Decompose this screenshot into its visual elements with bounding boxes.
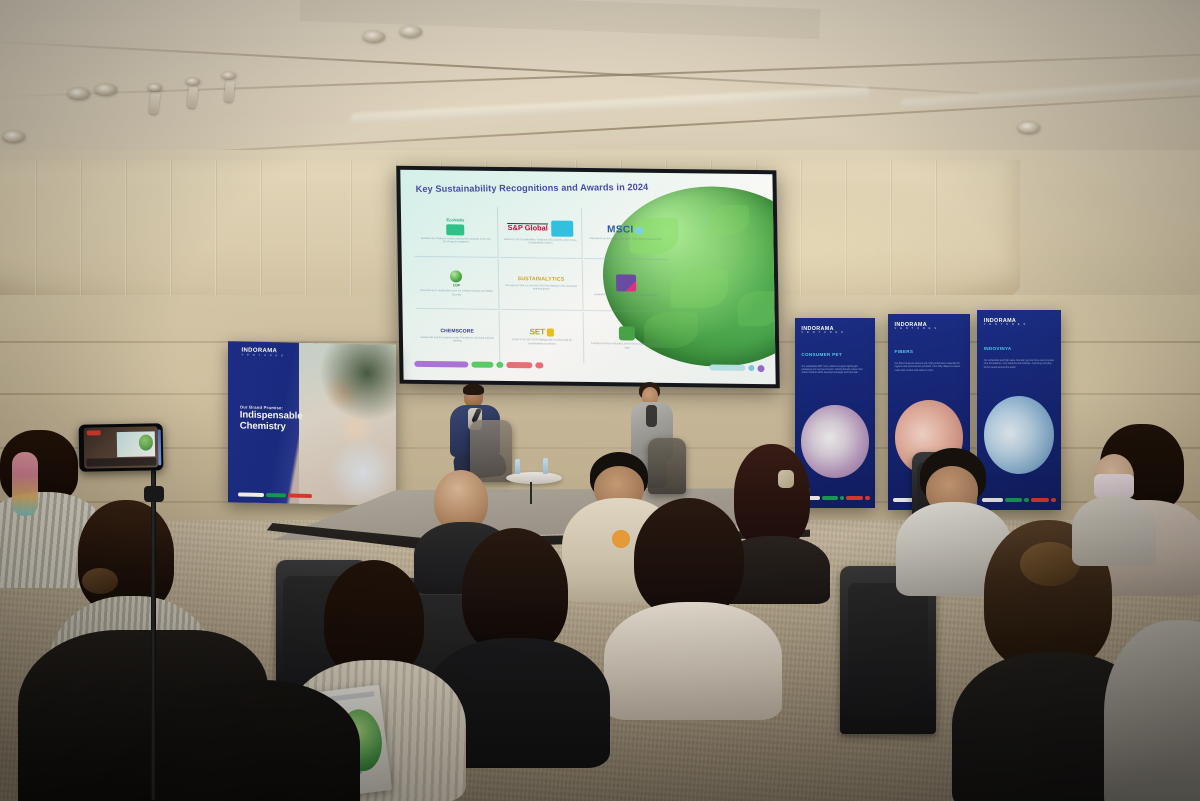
banner-body-copy: Our surfactants and high-value chemistry… xyxy=(984,360,1055,370)
banner-photo-family xyxy=(299,343,396,506)
banner-headline-block: Our Brand Promise: Indispensable Chemist… xyxy=(240,406,303,433)
indorama-logo: INDORAMA V E N T U R E S xyxy=(895,322,938,331)
stripe-green xyxy=(266,493,286,497)
indorama-logo: INDORAMA V E N T U R E S xyxy=(984,318,1027,327)
phone-screen[interactable] xyxy=(84,426,159,468)
award-logo: CHEMSCORE xyxy=(440,329,473,334)
indorama-logo: INDORAMA V E N T U R E S xyxy=(241,348,284,359)
tripod-mount-head xyxy=(144,486,164,502)
water-bottle xyxy=(543,458,548,474)
footer-dot xyxy=(757,365,764,372)
speaker-inner-top xyxy=(646,405,657,427)
phone-preview-foliage xyxy=(139,434,153,450)
award-caption: Listed in the SET ESG Ratings with an AA… xyxy=(505,338,579,345)
banner-heading: CONSUMER PET xyxy=(801,352,842,357)
ventures-wordmark: V E N T U R E S xyxy=(801,332,844,335)
cdp-globe-icon xyxy=(450,270,462,282)
phone-preview-slide xyxy=(116,431,155,457)
hair-bun xyxy=(82,568,118,594)
audience-hair xyxy=(462,528,568,654)
track-spotlight-lens xyxy=(222,72,236,79)
award-caption: Certified at Green Industry Level 4 Gree… xyxy=(590,342,665,349)
water-bottle xyxy=(515,459,520,474)
footer-pill xyxy=(471,362,493,368)
audience-member xyxy=(616,498,766,708)
banner-heading: INDOVINYA xyxy=(984,346,1012,351)
green-industry-badge xyxy=(619,327,635,341)
projected-slide: Key Sustainability Recognitions and Awar… xyxy=(400,170,775,385)
stripe-red-dot xyxy=(865,496,870,500)
banner-indispensable-chemistry: INDORAMA V E N T U R E S Our Brand Promi… xyxy=(228,341,396,506)
record-indicator-icon xyxy=(87,430,101,435)
tripod-pole xyxy=(151,470,156,800)
ceiling-downlight xyxy=(3,131,25,142)
footer-pill xyxy=(496,362,503,368)
award-cell: S&P Global Named to the Sustainability Y… xyxy=(499,207,583,259)
footer-pill xyxy=(506,362,532,368)
track-spotlight-lens xyxy=(148,84,162,91)
award-cell: Awarded Prime status in the ISS ESG Corp… xyxy=(584,260,668,312)
audience-hair xyxy=(634,498,744,618)
table-leg xyxy=(530,482,532,504)
audience-shoulders xyxy=(1104,620,1200,801)
conference-photo-scene: Key Sustainability Recognitions and Awar… xyxy=(0,0,1200,801)
audience-shoulders xyxy=(150,680,360,801)
ceiling-downlight xyxy=(68,88,90,99)
djsi-chip xyxy=(551,220,573,236)
ceiling-downlight xyxy=(1018,122,1040,133)
audience-member xyxy=(1104,600,1200,801)
award-caption: Received an A- leadership score for Clim… xyxy=(420,289,494,296)
award-logo: MSCI xyxy=(607,225,634,235)
slide-title: Key Sustainability Recognitions and Awar… xyxy=(415,181,713,194)
phone-side-glow xyxy=(158,429,162,465)
award-logo: S&P Global xyxy=(508,223,548,232)
audience-member xyxy=(1078,448,1148,558)
banner-heading: FIBERS xyxy=(895,349,914,354)
indorama-logo: INDORAMA V E N T U R E S xyxy=(801,326,844,335)
award-caption: Maintained an AA rating in the MSCI ESG … xyxy=(590,237,662,241)
hair-bun xyxy=(1020,542,1080,586)
stripe-red xyxy=(846,496,863,500)
track-spotlight xyxy=(149,92,161,115)
stripe-red xyxy=(288,493,311,497)
ceiling-downlight xyxy=(400,26,422,37)
award-cell: EcoVadis Awarded the Platinum medal, pla… xyxy=(414,206,498,258)
award-logo: SUSTAINALYTICS xyxy=(518,277,565,283)
award-logo: EcoVadis xyxy=(446,218,464,222)
stripe-red xyxy=(1031,498,1049,502)
headline-line-2: Chemistry xyxy=(240,421,303,433)
bag-charm xyxy=(12,452,38,516)
msci-dot xyxy=(636,227,644,235)
banner-color-stripe xyxy=(238,492,315,498)
ventures-wordmark: V E N T U R E S xyxy=(984,324,1027,327)
award-caption: Awarded the Platinum medal, placing the … xyxy=(419,237,493,244)
stage-side-table xyxy=(506,472,562,484)
award-cell: SUSTAINALYTICS Recognised with a Low Ris… xyxy=(499,259,583,311)
phone-camera-toolbar[interactable] xyxy=(86,457,156,466)
face-mask xyxy=(1094,474,1134,498)
award-caption: Recognised with a Low Risk ESG Risk Rati… xyxy=(504,284,578,291)
ceiling-downlight xyxy=(95,84,117,95)
stripe-white xyxy=(238,492,264,497)
award-caption: Named to the Sustainability Yearbook 202… xyxy=(503,237,577,244)
footer-dot xyxy=(748,365,754,371)
audience-shoulders xyxy=(1072,496,1156,566)
award-cell: MSCI Maintained an AA rating in the MSCI… xyxy=(583,208,667,260)
stripe-green-dot xyxy=(840,496,844,500)
audience-shoulders xyxy=(604,602,782,720)
set-mark xyxy=(547,329,554,337)
track-spotlight xyxy=(187,86,198,109)
track-spotlight-lens xyxy=(186,78,200,85)
stripe-green-dot xyxy=(1024,498,1028,502)
ventures-wordmark: V E N T U R E S xyxy=(241,355,284,359)
banner-body-copy: Our sustainable PET resin solutions supp… xyxy=(801,366,868,376)
hair-clip xyxy=(778,470,794,488)
track-spotlight xyxy=(224,80,235,103)
ecovadis-chip xyxy=(446,224,464,235)
stripe-green xyxy=(1005,498,1022,502)
slide-footer-pills xyxy=(414,355,764,378)
awards-grid: EcoVadis Awarded the Platinum medal, pla… xyxy=(414,206,669,364)
banner-body-copy: Our fibers business delivers soft, high-… xyxy=(895,363,964,373)
award-caption: Awarded Prime status in the ISS ESG Corp… xyxy=(594,293,658,297)
footer-pill xyxy=(414,361,468,368)
iss-esg-chip xyxy=(616,274,636,291)
audience-member xyxy=(150,680,350,801)
award-logo: CDP xyxy=(453,284,460,287)
projection-screen: Key Sustainability Recognitions and Awar… xyxy=(396,166,780,389)
smartphone-on-tripod[interactable] xyxy=(79,423,164,471)
award-logo: SET xyxy=(530,329,546,337)
award-caption: Ranked among the leaders in the ChemScor… xyxy=(420,336,494,343)
stripe-red-dot xyxy=(1051,498,1056,502)
speaker-hair xyxy=(463,384,484,395)
ceiling-downlight xyxy=(363,31,385,42)
ventures-wordmark: V E N T U R E S xyxy=(895,328,938,331)
footer-pill xyxy=(709,365,745,371)
footer-pill xyxy=(535,363,543,369)
award-cell: CDP Received an A- leadership score for … xyxy=(415,258,499,310)
